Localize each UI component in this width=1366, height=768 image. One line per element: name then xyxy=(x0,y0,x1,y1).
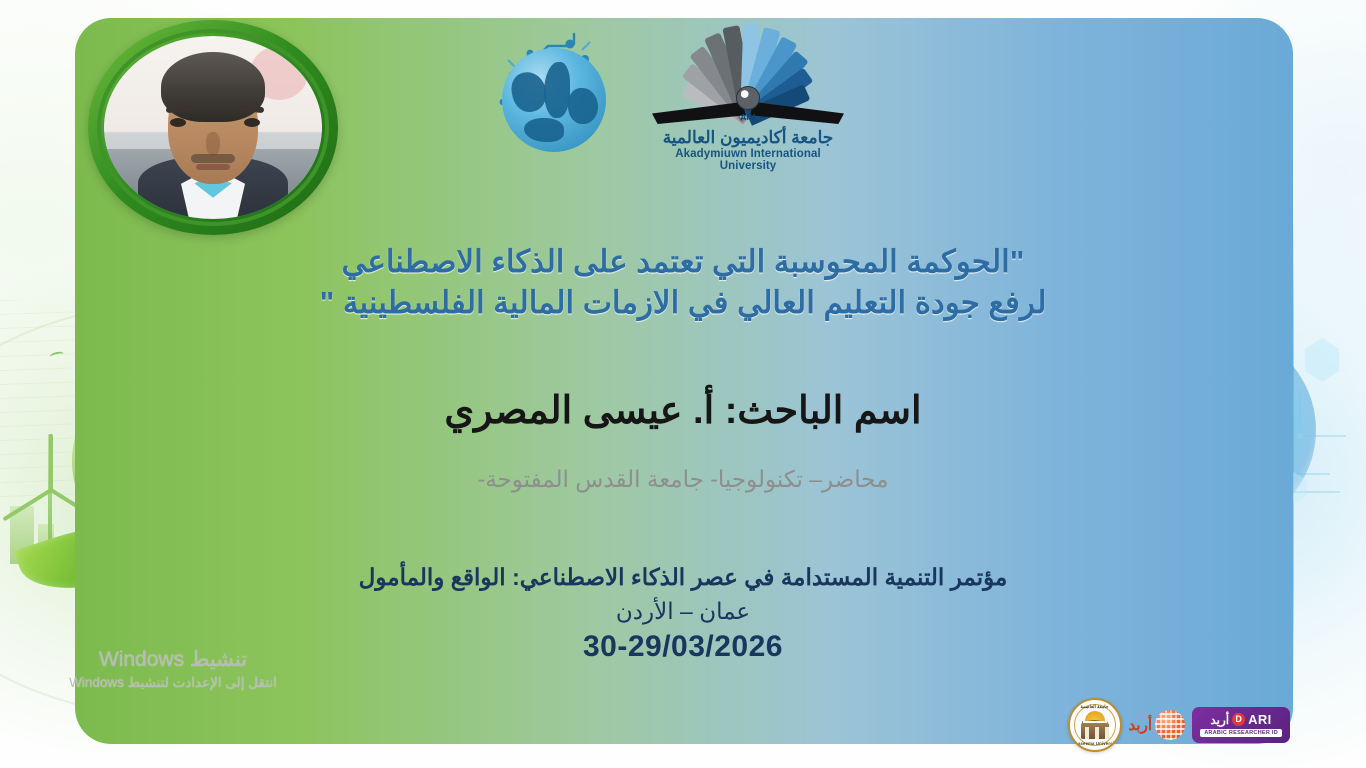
wind-turbine-icon xyxy=(48,434,52,554)
circuit-lines-icon xyxy=(1180,382,1350,572)
conference-date: 30-29/03/2026 xyxy=(183,630,1183,664)
arid-badge: D xyxy=(1232,713,1245,726)
seal-name-arabic: جامعة العاصمة xyxy=(1070,704,1120,710)
arid-subtitle: ARABIC RESEARCHER ID xyxy=(1200,729,1282,737)
title-line-2: لرفع جودة التعليم العالي في الازمات الما… xyxy=(193,283,1173,324)
bird-icon xyxy=(49,351,64,361)
aiu-name-english: Akadymiuwn International University xyxy=(648,148,848,172)
bird-icon xyxy=(77,342,89,349)
circuit-globe-logo xyxy=(486,24,618,156)
arid-ar-text: أريد xyxy=(1210,714,1229,726)
small-globe-icon xyxy=(736,86,760,110)
leaf-icon xyxy=(14,504,176,609)
researcher-photo xyxy=(104,36,322,219)
open-book-fan-icon: AIU xyxy=(648,24,848,124)
researcher-name: اسم الباحث: أ. عيسى المصري xyxy=(233,388,1133,436)
striped-globe-icon xyxy=(1155,710,1185,740)
conference-location: عمان – الأردن xyxy=(183,595,1183,628)
top-logo-group: AIU جامعة أكاديميون العالمية Akadymiuwn … xyxy=(486,24,848,172)
background-green-line xyxy=(210,320,215,740)
neural-network-icon xyxy=(1116,330,1316,530)
conference-info: مؤتمر التنمية المستدامة في عصر الذكاء ال… xyxy=(183,563,1183,664)
conference-title: مؤتمر التنمية المستدامة في عصر الذكاء ال… xyxy=(183,563,1183,593)
irbid-logo: أربد xyxy=(1129,710,1185,740)
seal-name-english: Alaaseema University xyxy=(1070,741,1120,746)
title-line-1: "الحوكمة المحوسبة التي تعتمد على الذكاء … xyxy=(193,242,1173,283)
watermark-line-2: انتقل إلى الإعدادت لتنشيط Windows xyxy=(28,674,318,692)
aiu-name-arabic: جامعة أكاديميون العالمية xyxy=(648,128,848,148)
arid-logo: ARI D أريد ARABIC RESEARCHER ID xyxy=(1192,707,1290,743)
bottom-logo-group: ARI D أريد ARABIC RESEARCHER ID أربد جام… xyxy=(1068,698,1290,752)
presentation-slide: AIU جامعة أكاديميون العالمية Akadymiuwn … xyxy=(0,0,1366,768)
bird-icon xyxy=(206,359,220,368)
leaf-icon xyxy=(120,532,186,592)
bird-icon xyxy=(232,344,243,350)
aiu-abbreviation: AIU xyxy=(740,113,755,122)
blue-globe-icon xyxy=(502,48,606,152)
background-blue-line xyxy=(1288,200,1294,720)
researcher-affiliation: محاضر– تكنولوجيا- جامعة القدس المفتوحة- xyxy=(233,466,1133,493)
hexagon-icon xyxy=(1280,472,1308,503)
arid-en-text: ARI xyxy=(1248,713,1272,726)
aiu-logo: AIU جامعة أكاديميون العالمية Akadymiuwn … xyxy=(648,24,848,172)
hexagon-icon xyxy=(1302,338,1342,382)
avatar xyxy=(88,20,338,235)
page-title: "الحوكمة المحوسبة التي تعتمد على الذكاء … xyxy=(193,242,1173,324)
irbid-text: أربد xyxy=(1129,716,1152,734)
university-seal-logo: جامعة العاصمة Alaaseema University xyxy=(1068,698,1122,752)
